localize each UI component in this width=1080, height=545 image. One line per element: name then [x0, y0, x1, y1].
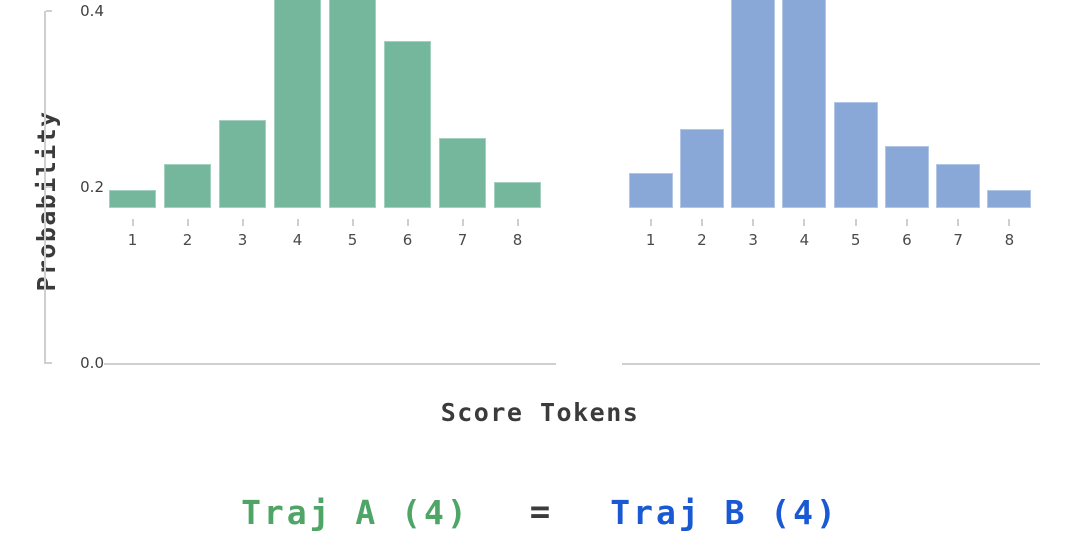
bar-group-traj-b	[625, 0, 1035, 208]
x-tick-label: 4	[779, 228, 830, 252]
bar	[274, 0, 321, 208]
x-tick-label: 6	[380, 228, 435, 252]
x-tick-mark	[517, 219, 519, 226]
x-tick-mark-slot	[830, 219, 881, 226]
bar-slot	[676, 0, 727, 208]
x-tick-marks-traj-b	[625, 219, 1035, 226]
bar	[987, 190, 1031, 208]
bar-slot	[105, 0, 160, 208]
x-tick-mark-slot	[270, 219, 325, 226]
y-tick-mark-1	[46, 186, 52, 188]
bar-slot	[270, 0, 325, 208]
bar	[109, 190, 156, 208]
x-tick-mark	[1008, 219, 1010, 226]
bar	[885, 146, 929, 208]
x-tick-mark-slot	[490, 219, 545, 226]
bar	[629, 173, 673, 208]
caption-row: Traj A (4) = Traj B (4)	[0, 492, 1080, 532]
bar-slot	[881, 0, 932, 208]
x-tick-label: 4	[270, 228, 325, 252]
bar-slot	[380, 0, 435, 208]
x-tick-mark	[407, 219, 409, 226]
bar	[219, 120, 266, 208]
x-tick-label: 3	[215, 228, 270, 252]
caption-traj-a: Traj A (4)	[241, 493, 470, 532]
bar	[329, 0, 376, 208]
x-tick-label: 8	[984, 228, 1035, 252]
bar-slot	[779, 0, 830, 208]
bar-slot	[215, 0, 270, 208]
bar-slot	[728, 0, 779, 208]
x-tick-mark-slot	[779, 219, 830, 226]
bar-slot	[984, 0, 1035, 208]
bar	[782, 0, 826, 208]
x-tick-label: 3	[728, 228, 779, 252]
bar-group-traj-a	[105, 0, 545, 208]
y-tick-mark-0	[46, 362, 52, 364]
bar	[731, 0, 775, 208]
x-tick-mark	[297, 219, 299, 226]
x-tick-mark-slot	[676, 219, 727, 226]
bar	[384, 41, 431, 208]
x-tick-marks-traj-a	[105, 219, 545, 226]
x-tick-mark	[132, 219, 134, 226]
x-tick-label: 6	[881, 228, 932, 252]
bar-slot	[325, 0, 380, 208]
bar	[834, 102, 878, 208]
x-tick-mark	[752, 219, 754, 226]
x-tick-mark-slot	[933, 219, 984, 226]
figure-container: Probability 0.0 0.2 0.4 12345678 1234567…	[0, 0, 1080, 545]
y-axis-spine	[44, 11, 46, 364]
bar-slot	[933, 0, 984, 208]
y-tick-mark-2	[46, 10, 52, 12]
x-tick-mark-slot	[984, 219, 1035, 226]
x-tick-mark-slot	[881, 219, 932, 226]
bar-slot	[830, 0, 881, 208]
x-tick-mark-slot	[215, 219, 270, 226]
bar-slot	[160, 0, 215, 208]
bar	[680, 129, 724, 208]
x-tick-mark	[650, 219, 652, 226]
x-tick-label: 1	[625, 228, 676, 252]
x-tick-mark	[803, 219, 805, 226]
x-tick-mark-slot	[728, 219, 779, 226]
x-tick-mark	[187, 219, 189, 226]
x-tick-mark-slot	[435, 219, 490, 226]
x-tick-label: 5	[325, 228, 380, 252]
bar	[936, 164, 980, 208]
x-axis-title: Score Tokens	[0, 398, 1080, 427]
x-tick-label: 1	[105, 228, 160, 252]
x-tick-mark-slot	[625, 219, 676, 226]
bar	[494, 182, 541, 208]
x-tick-label: 8	[490, 228, 545, 252]
x-tick-mark	[462, 219, 464, 226]
x-tick-mark	[957, 219, 959, 226]
x-tick-mark-slot	[160, 219, 215, 226]
chart-panel-traj-b: 12345678	[600, 0, 1050, 390]
chart-panel-traj-a: 12345678	[60, 0, 560, 390]
caption-traj-b: Traj B (4)	[610, 493, 839, 532]
caption-equals-sign: =	[530, 492, 550, 532]
x-tick-mark	[906, 219, 908, 226]
x-tick-mark	[352, 219, 354, 226]
x-tick-label: 7	[435, 228, 490, 252]
x-tick-label: 2	[160, 228, 215, 252]
x-tick-mark	[701, 219, 703, 226]
bar	[439, 138, 486, 208]
x-tick-mark	[242, 219, 244, 226]
bar	[164, 164, 211, 208]
x-tick-labels-traj-b: 12345678	[625, 228, 1035, 252]
x-tick-label: 7	[933, 228, 984, 252]
x-tick-mark-slot	[325, 219, 380, 226]
x-tick-label: 2	[676, 228, 727, 252]
x-tick-labels-traj-a: 12345678	[105, 228, 545, 252]
plot-area-traj-a: 12345678	[105, 0, 545, 208]
bar-slot	[490, 0, 545, 208]
x-tick-mark-slot	[105, 219, 160, 226]
plot-area-traj-b: 12345678	[625, 0, 1035, 208]
bar-slot	[625, 0, 676, 208]
x-tick-mark	[855, 219, 857, 226]
bar-slot	[435, 0, 490, 208]
x-tick-label: 5	[830, 228, 881, 252]
x-tick-mark-slot	[380, 219, 435, 226]
